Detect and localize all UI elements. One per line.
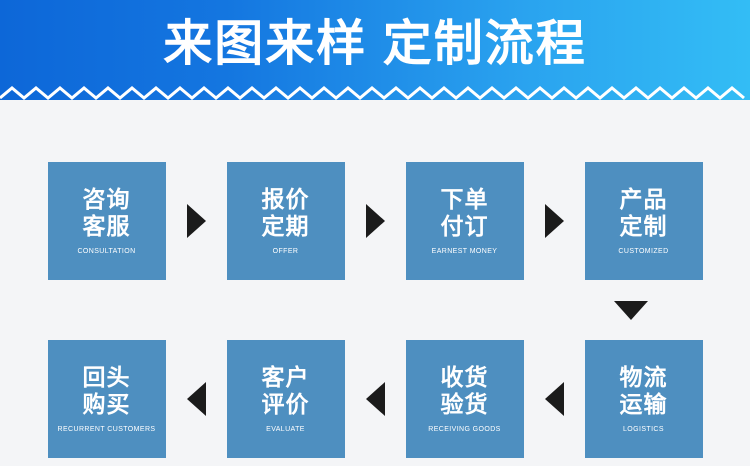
process-flow-diagram: 咨询 客服 CONSULTATION 报价 定期 OFFER 下单 付订 EAR… [0,100,750,466]
flow-step-earnest-money[interactable]: 下单 付订 EARNEST MONEY [406,162,524,280]
arrow-logistics-to-receiving-goods [524,340,585,458]
flow-step-subtitle: RECEIVING GOODS [428,425,501,434]
flow-step-title: 咨询 [83,186,131,213]
flow-step-title-second-line: 购买 [83,391,131,418]
flow-step-title: 物流 [620,364,668,391]
flow-step-title-second-line: 付订 [441,213,489,240]
chevron-left-icon [366,382,385,416]
flow-step-subtitle: RECURRENT CUSTOMERS [58,425,156,434]
flow-step-title: 下单 [441,186,489,213]
chevron-right-icon [366,204,385,238]
flow-step-title: 收货 [441,364,489,391]
flow-step-recurrent-customers[interactable]: 回头 购买 RECURRENT CUSTOMERS [48,340,166,458]
arrow-earnest-money-to-customized [524,162,585,280]
arrow-evaluate-to-recurrent-customers [166,340,227,458]
flow-step-title-second-line: 定制 [620,213,668,240]
flow-step-title: 回头 [83,364,131,391]
flow-step-subtitle: LOGISTICS [623,425,664,434]
chevron-right-icon [545,204,564,238]
arrow-consultation-to-offer [166,162,227,280]
chevron-down-icon [614,301,648,320]
flow-row-top: 咨询 客服 CONSULTATION 报价 定期 OFFER 下单 付订 EAR… [0,162,750,280]
flow-step-title: 报价 [262,186,310,213]
flowchart-page: 来图来样 定制流程 咨询 客服 CONSULTATION 报价 定期 OFFER [0,0,750,466]
chevron-left-icon [545,382,564,416]
flow-step-title: 客户 [262,364,310,391]
flow-step-title-second-line: 定期 [262,213,310,240]
flow-step-subtitle: CONSULTATION [77,247,135,256]
flow-step-title-second-line: 评价 [262,391,310,418]
flow-step-title-second-line: 验货 [441,391,489,418]
arrow-customized-to-logistics [572,285,690,335]
chevron-right-icon [187,204,206,238]
flow-step-subtitle: OFFER [273,247,299,256]
flow-step-title-second-line: 客服 [83,213,131,240]
flow-step-subtitle: EARNEST MONEY [432,247,498,256]
flow-step-subtitle: EVALUATE [266,425,305,434]
arrow-offer-to-earnest-money [345,162,406,280]
flow-step-subtitle: CUSTOMIZED [618,247,668,256]
flow-step-offer[interactable]: 报价 定期 OFFER [227,162,345,280]
flow-step-customized[interactable]: 产品 定制 CUSTOMIZED [585,162,703,280]
flow-step-consultation[interactable]: 咨询 客服 CONSULTATION [48,162,166,280]
flow-step-title: 产品 [620,186,668,213]
flow-step-title-second-line: 运输 [620,391,668,418]
zigzag-divider-icon [0,86,750,100]
arrow-receiving-goods-to-evaluate [345,340,406,458]
chevron-left-icon [187,382,206,416]
flow-step-logistics[interactable]: 物流 运输 LOGISTICS [585,340,703,458]
flow-step-receiving-goods[interactable]: 收货 验货 RECEIVING GOODS [406,340,524,458]
flow-row-bottom: 回头 购买 RECURRENT CUSTOMERS 客户 评价 EVALUATE… [0,340,750,458]
header-banner: 来图来样 定制流程 [0,0,750,100]
page-title: 来图来样 定制流程 [0,0,750,88]
flow-step-evaluate[interactable]: 客户 评价 EVALUATE [227,340,345,458]
